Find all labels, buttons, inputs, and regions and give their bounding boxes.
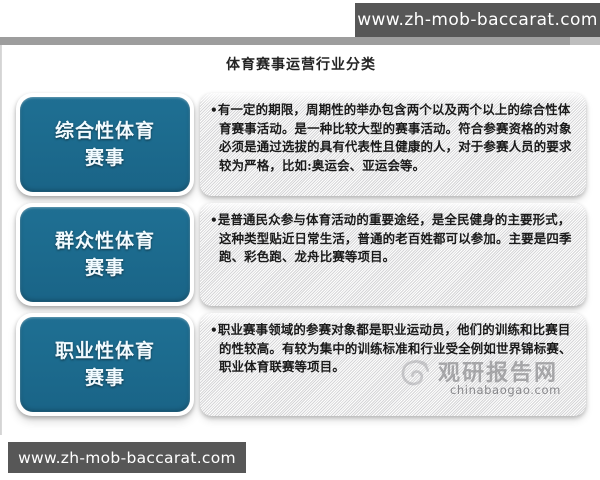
category-description-1: •有一定的期限，周期性的举办包含两个以及两个以上的综合性体育赛事活动。是一种比较… xyxy=(210,101,574,176)
category-label-box-3[interactable]: 职业性体育 赛事 xyxy=(16,313,194,416)
bottom-url-overlay: www.zh-mob-baccarat.com xyxy=(8,442,246,473)
category-description-box-1: •有一定的期限，周期性的举办包含两个以及两个以上的综合性体育赛事活动。是一种比较… xyxy=(200,93,586,196)
category-label-inner-2: 群众性体育 赛事 xyxy=(20,207,190,302)
category-label-text-3: 职业性体育 赛事 xyxy=(55,338,155,392)
top-divider-strip xyxy=(0,37,600,45)
table-row: 职业性体育 赛事 •职业赛事领域的参赛对象都是职业运动员，他们的训练和比赛目的性… xyxy=(2,313,600,417)
category-description-text-1: 有一定的期限，周期性的举办包含两个以及两个以上的综合性体育赛事活动。是一种比较大… xyxy=(218,102,572,173)
category-label-text-2: 群众性体育 赛事 xyxy=(55,228,155,282)
top-url-overlay: www.zh-mob-baccarat.com xyxy=(355,3,600,37)
category-label-box-2[interactable]: 群众性体育 赛事 xyxy=(16,203,194,306)
category-description-text-2: 是普通民众参与体育活动的重要途经，是全民健身的主要形式，这种类型贴近日常生活，普… xyxy=(218,212,572,264)
bullet-icon: • xyxy=(210,323,218,337)
category-description-3: •职业赛事领域的参赛对象都是职业运动员，他们的训练和比赛目的性较高。有较为集中的… xyxy=(210,321,574,377)
category-label-box-1[interactable]: 综合性体育 赛事 xyxy=(16,93,194,196)
top-divider-segment-left xyxy=(0,37,570,45)
bullet-icon: • xyxy=(210,213,218,227)
category-label-text-1: 综合性体育 赛事 xyxy=(55,118,155,172)
category-label-inner-3: 职业性体育 赛事 xyxy=(20,317,190,412)
category-label-inner-1: 综合性体育 赛事 xyxy=(20,97,190,192)
table-row: 综合性体育 赛事 •有一定的期限，周期性的举办包含两个以及两个以上的综合性体育赛… xyxy=(2,93,600,197)
category-description-box-2: •是普通民众参与体育活动的重要途经，是全民健身的主要形式，这种类型贴近日常生活，… xyxy=(200,203,586,306)
bullet-icon: • xyxy=(210,103,218,117)
top-divider-segment-right xyxy=(570,37,600,45)
slide-panel: 体育赛事运营行业分类 综合性体育 赛事 •有一定的期限，周期性的举办包含两个以及… xyxy=(1,45,600,435)
table-row: 群众性体育 赛事 •是普通民众参与体育活动的重要途经，是全民健身的主要形式，这种… xyxy=(2,203,600,307)
page-title: 体育赛事运营行业分类 xyxy=(2,54,600,74)
screenshot-canvas: 体育赛事运营行业分类 综合性体育 赛事 •有一定的期限，周期性的举办包含两个以及… xyxy=(0,0,600,480)
category-description-text-3: 职业赛事领域的参赛对象都是职业运动员，他们的训练和比赛目的性较高。有较为集中的训… xyxy=(218,322,572,374)
category-description-2: •是普通民众参与体育活动的重要途经，是全民健身的主要形式，这种类型贴近日常生活，… xyxy=(210,211,574,267)
category-description-box-3: •职业赛事领域的参赛对象都是职业运动员，他们的训练和比赛目的性较高。有较为集中的… xyxy=(200,313,586,416)
category-row-list: 综合性体育 赛事 •有一定的期限，周期性的举办包含两个以及两个以上的综合性体育赛… xyxy=(2,93,600,423)
